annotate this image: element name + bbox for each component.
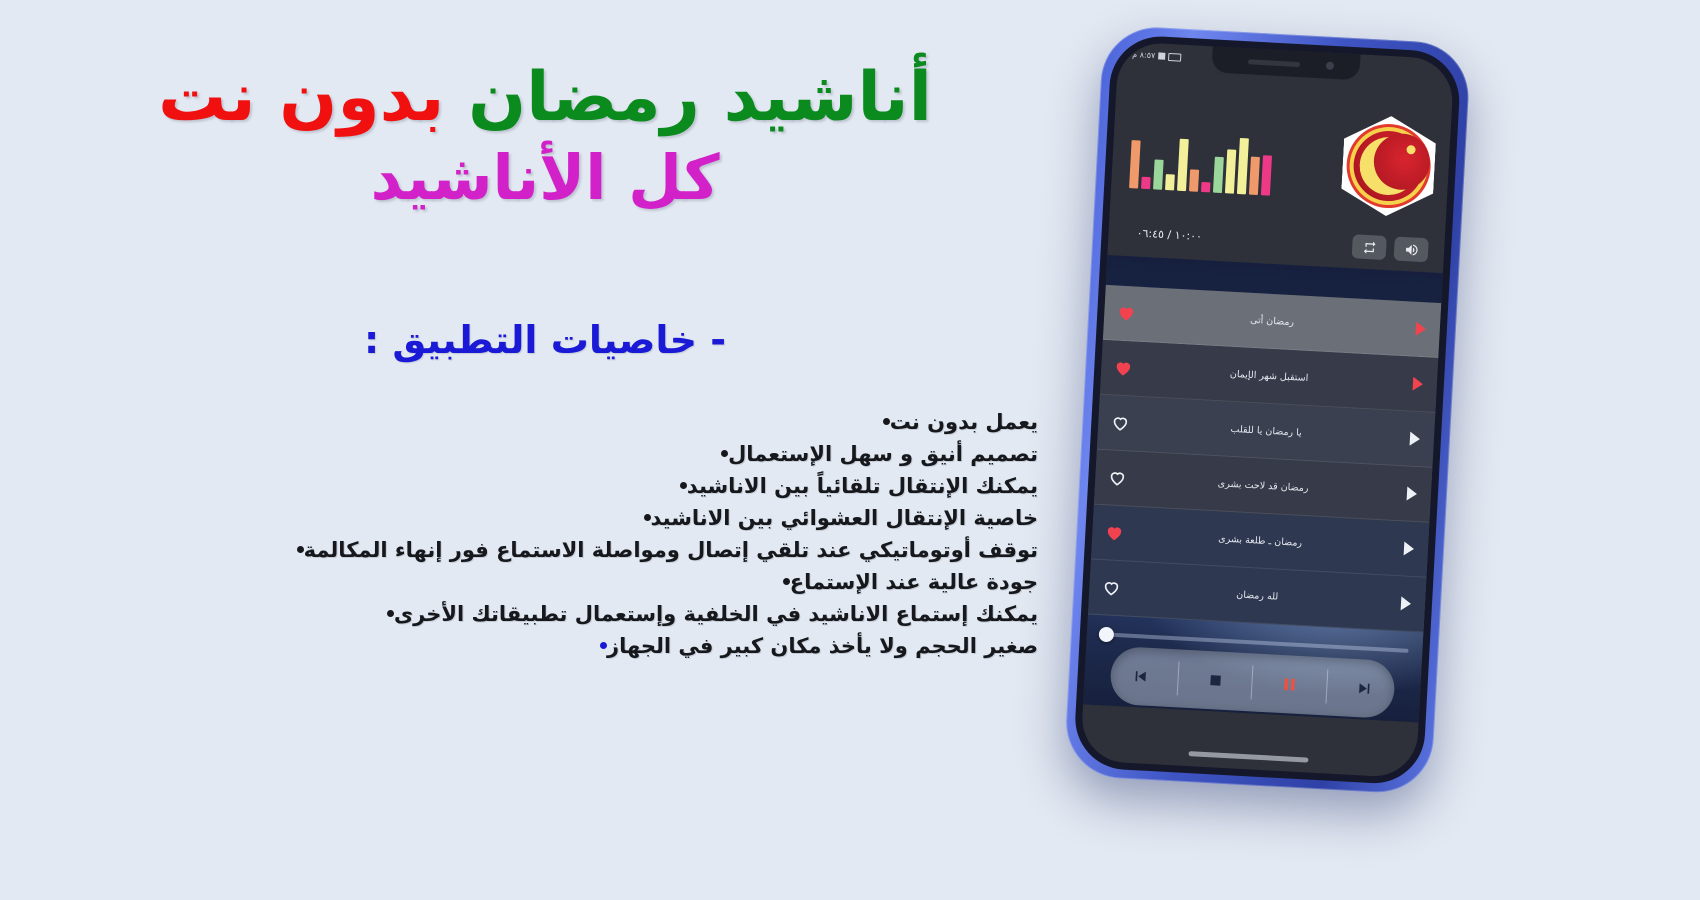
bullet-icon — [883, 418, 890, 425]
features-list: يعمل بدون نتتصميم أنيق و سهل الإستعماليم… — [0, 412, 1038, 668]
equalizer-bar — [1141, 177, 1151, 189]
equalizer-bar — [1213, 157, 1224, 193]
equalizer-bar — [1237, 138, 1249, 194]
equalizer-bar — [1153, 159, 1164, 189]
feature-label: صغير الحجم ولا يأخذ مكان كبير في الجهاز — [607, 634, 1038, 658]
equalizer-bar — [1249, 157, 1260, 195]
headline-block: أناشيد رمضان بدون نت كل الأناشيد — [0, 62, 1090, 210]
headline-part-green: أناشيد رمضان — [468, 58, 932, 137]
feature-label: جودة عالية عند الإستماع — [790, 570, 1038, 594]
feature-item: يمكنك الإنتقال تلقائياً بين الاناشيد — [0, 476, 1038, 497]
feature-item: جودة عالية عند الإستماع — [0, 572, 1038, 593]
phone-screen: ٨:٥٧ م ١٠:٠٠ — [1080, 41, 1454, 778]
features-subtitle: - خاصيات التطبيق : — [0, 318, 1090, 362]
feature-label: خاصية الإنتقال العشوائي بين الاناشيد — [651, 506, 1039, 530]
equalizer-bar — [1201, 182, 1211, 192]
song-title: رمضان أتى — [1104, 306, 1440, 335]
phone-mockup: ٨:٥٧ م ١٠:٠٠ — [1034, 9, 1506, 821]
feature-label: يمكنك إستماع الاناشيد في الخلفية وإستعما… — [394, 602, 1038, 626]
equalizer-bar — [1189, 169, 1199, 191]
feature-label: يمكنك الإنتقال تلقائياً بين الاناشيد — [687, 474, 1038, 498]
control-divider — [1176, 661, 1179, 695]
bullet-icon — [721, 450, 728, 457]
bullet-icon — [600, 642, 607, 649]
pause-icon[interactable] — [1266, 661, 1314, 707]
equalizer-bar — [1129, 140, 1141, 188]
seek-knob[interactable] — [1098, 627, 1114, 643]
play-icon[interactable] — [1407, 487, 1418, 502]
equalizer-visualizer — [1129, 126, 1284, 196]
equalizer-bar — [1177, 139, 1189, 191]
equalizer-bar — [1165, 174, 1175, 190]
player-time-row: ١٠:٠٠ / ٠٦:٤٥ — [1108, 217, 1445, 269]
equalizer-bar — [1225, 149, 1236, 193]
playback-time: ١٠:٠٠ / ٠٦:٤٥ — [1136, 227, 1202, 244]
volume-icon[interactable] — [1394, 236, 1429, 262]
bullet-icon — [680, 482, 687, 489]
stop-icon[interactable] — [1191, 657, 1239, 703]
play-icon[interactable] — [1413, 377, 1424, 392]
feature-item: تصميم أنيق و سهل الإستعمال — [0, 444, 1038, 465]
status-bar-left: ٨:٥٧ م — [1132, 50, 1182, 62]
song-title: رمضان ـ طلعة بشرى — [1092, 526, 1428, 555]
moon-disc — [1352, 129, 1426, 203]
text-column: أناشيد رمضان بدون نت كل الأناشيد - خاصيا… — [0, 0, 1090, 900]
control-divider — [1251, 665, 1254, 699]
bullet-icon — [644, 514, 651, 521]
promo-banner: أناشيد رمضان بدون نت كل الأناشيد - خاصيا… — [0, 0, 1700, 900]
feature-label: توقف أوتوماتيكي عند تلقي إتصال ومواصلة ا… — [304, 538, 1038, 562]
play-icon[interactable] — [1401, 596, 1412, 611]
feature-label: يعمل بدون نت — [890, 410, 1038, 434]
headline-part-red: بدون نت — [158, 58, 444, 137]
headline-line-2: كل الأناشيد — [0, 145, 1090, 210]
bullet-icon — [387, 610, 394, 617]
previous-track-icon[interactable] — [1116, 653, 1164, 699]
song-list[interactable]: رمضان أتىاستقبل شهر الإيمانيا رمضان يا ل… — [1088, 285, 1441, 633]
feature-item: خاصية الإنتقال العشوائي بين الاناشيد — [0, 508, 1038, 529]
song-title: استقبل شهر الإيمان — [1101, 361, 1437, 390]
song-title: رمضان قد لاحت بشرى — [1095, 471, 1431, 500]
equalizer-bar — [1261, 155, 1272, 195]
feature-item: صغير الحجم ولا يأخذ مكان كبير في الجهاز — [0, 636, 1038, 657]
home-indicator — [1188, 751, 1308, 762]
signal-icon — [1158, 52, 1165, 59]
feature-item: يمكنك إستماع الاناشيد في الخلفية وإستعما… — [0, 604, 1038, 625]
status-bar-time: ٨:٥٧ م — [1132, 50, 1156, 60]
crescent-moon-icon — [1340, 114, 1437, 219]
song-title: لله رمضان — [1089, 581, 1425, 610]
control-divider — [1326, 669, 1329, 703]
feature-item: توقف أوتوماتيكي عند تلقي إتصال ومواصلة ا… — [0, 540, 1038, 561]
repeat-icon[interactable] — [1352, 234, 1387, 260]
play-icon[interactable] — [1410, 432, 1421, 447]
album-art — [1340, 114, 1437, 219]
play-icon[interactable] — [1404, 541, 1415, 556]
play-icon[interactable] — [1415, 322, 1426, 337]
headline-line-1: أناشيد رمضان بدون نت — [0, 62, 1090, 133]
player-header: ١٠:٠٠ / ٠٦:٤٥ — [1106, 67, 1453, 303]
feature-label: تصميم أنيق و سهل الإستعمال — [728, 442, 1038, 466]
bullet-icon — [297, 546, 304, 553]
next-track-icon[interactable] — [1340, 665, 1388, 711]
bullet-icon — [783, 578, 790, 585]
feature-item: يعمل بدون نت — [0, 412, 1038, 433]
song-title: يا رمضان يا للقلب — [1098, 416, 1434, 445]
battery-icon — [1168, 52, 1181, 61]
